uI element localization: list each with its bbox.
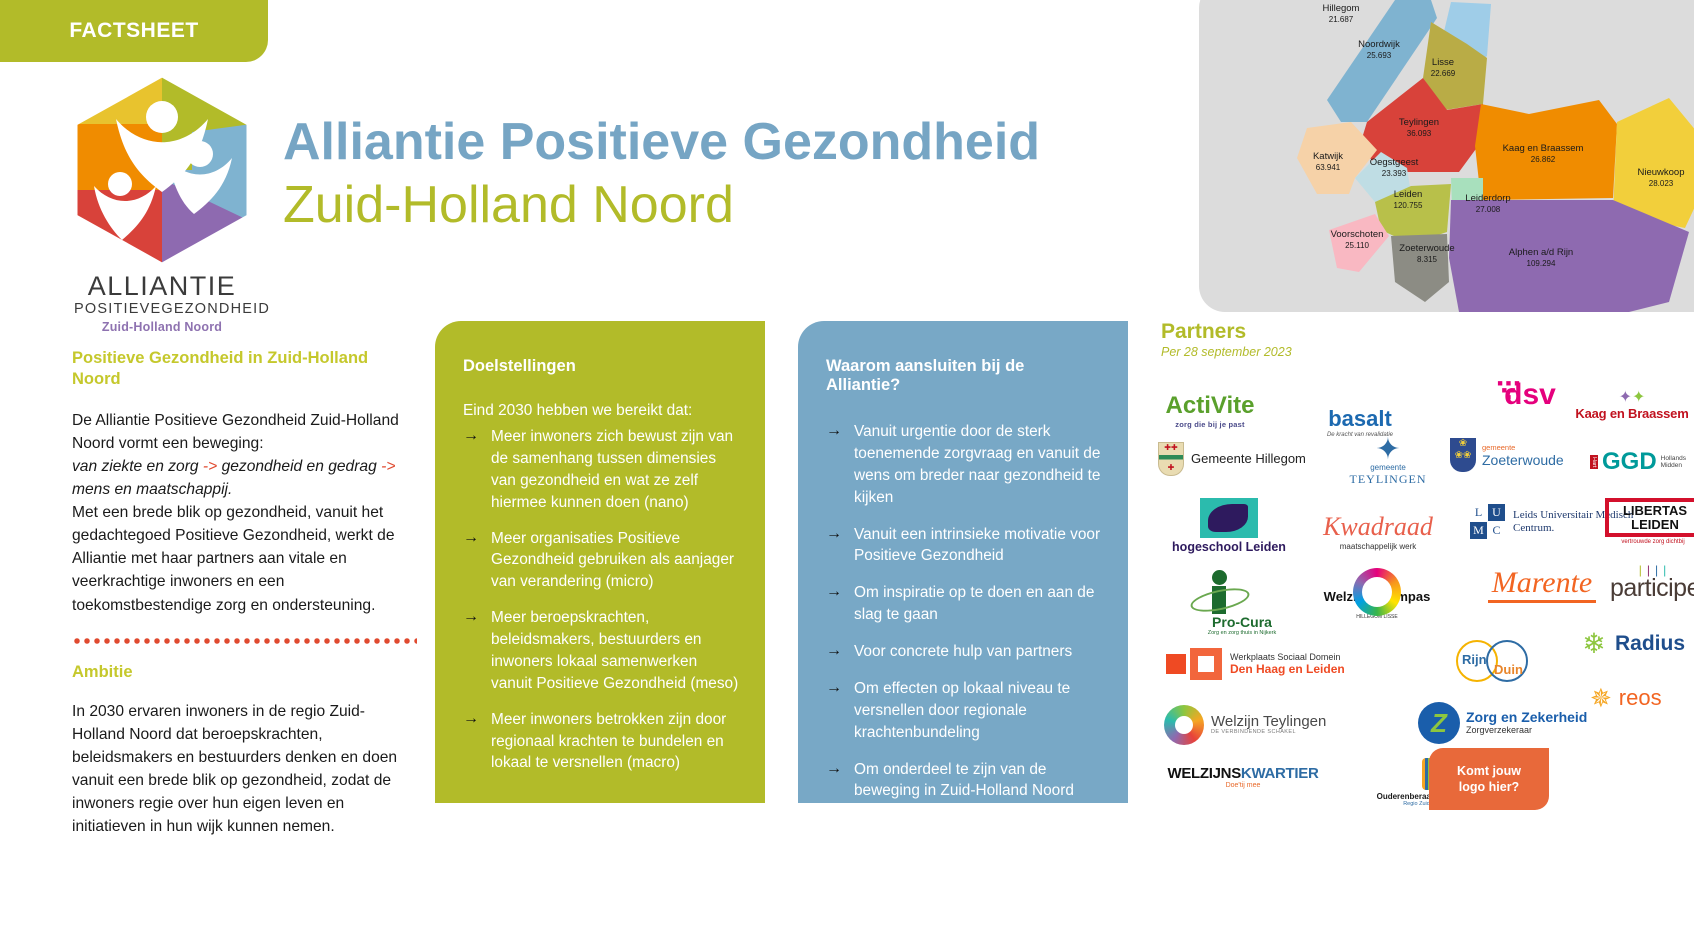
- partners-date: Per 28 september 2023: [1161, 345, 1292, 359]
- list-item: →Vanuit urgentie door de sterk toenemend…: [826, 421, 1102, 509]
- hillegom-crest-icon: ✚✚✚: [1158, 442, 1184, 476]
- partner-logo-gemeente-zoeterwoude: ❀❀❀ gemeente Zoeterwoude: [1450, 438, 1610, 472]
- cta-line1: Komt jouw: [1457, 763, 1521, 779]
- libertas-text: LIBERTAS LEIDEN: [1623, 503, 1687, 532]
- arrow-right-icon: →: [463, 606, 479, 629]
- hillegom-text: Gemeente Hillegom: [1191, 451, 1306, 466]
- partners-heading: Partners: [1161, 320, 1292, 344]
- map-region-voorschoten: [1329, 214, 1389, 272]
- doelstellingen-lead: Eind 2030 hebben we bereikt dat:: [463, 402, 739, 420]
- left-text-column: Positieve Gezondheid in Zuid-Holland Noo…: [72, 348, 417, 838]
- arrow-right-icon: →: [826, 581, 842, 604]
- partner-logo-libertas-leiden: LIBERTAS LEIDEN vertrouwde zorg dichtbij: [1605, 498, 1694, 545]
- dsv-text: dsv: [1504, 378, 1556, 411]
- partner-logo-welzijn-teylingen: Welzijn Teylingen DE VERBINDENDE SCHAKEL: [1164, 705, 1344, 745]
- list-item: →Meer organisaties Positieve Gezondheid …: [463, 528, 739, 594]
- marente-text: Marente: [1492, 566, 1593, 599]
- list-item: →Vanuit een intrinsieke motivatie voor P…: [826, 524, 1102, 568]
- radius-text: Radius: [1615, 632, 1685, 655]
- zoeterwoude-text: Zoeterwoude: [1482, 452, 1564, 468]
- werkplaats-tagline: Werkplaats Sociaal Domein: [1230, 652, 1345, 662]
- partner-logo-hogeschool-leiden: hogeschool Leiden: [1164, 498, 1294, 555]
- partners-heading-block: Partners Per 28 september 2023: [1161, 320, 1292, 359]
- map-region-kaag: [1475, 100, 1617, 200]
- panel-doelstellingen: Doelstellingen Eind 2030 hebben we berei…: [435, 321, 765, 803]
- arrow-right-icon: →: [826, 420, 842, 443]
- zorg-zekerheid-tagline: Zorgverzekeraar: [1466, 726, 1587, 736]
- libertas-tagline: vertrouwde zorg dichtbij: [1605, 539, 1694, 545]
- partner-logo-grid: ActiVite zorg die bij je past basalt De …: [1150, 380, 1694, 820]
- basalt-text: basalt: [1328, 406, 1392, 431]
- partner-logo-gemeente-teylingen: ✦ gemeente TEYLINGEN: [1328, 436, 1448, 487]
- list-item-text: Vanuit een intrinsieke motivatie voor Po…: [854, 526, 1100, 565]
- intro-arrow-2: ->: [381, 458, 395, 475]
- intro-sentence-1: De Alliantie Positieve Gezondheid Zuid-H…: [72, 412, 399, 452]
- partner-logo-kaag-en-braassem: ✦✦ Kaag en Braassem: [1570, 390, 1694, 421]
- intro-italic-1: van ziekte en zorg: [72, 458, 199, 475]
- welzijnskwartier-tagline: Doe'tij mee: [1158, 782, 1328, 789]
- kaag-text: Kaag en Braassem: [1575, 406, 1688, 421]
- logo-word-positieve: POSITIEVE: [74, 301, 161, 317]
- radius-clover-icon: ❄: [1580, 630, 1608, 658]
- partner-logo-pro-cura: Pro-Cura Zorg en zorg thuis in Nijkerk: [1164, 570, 1294, 636]
- komt-jouw-logo-hier-button[interactable]: Komt jouw logo hier?: [1429, 748, 1549, 810]
- ambitie-paragraph: In 2030 ervaren inwoners in de regio Zui…: [72, 700, 417, 838]
- teylingen-text: TEYLINGEN: [1350, 472, 1427, 486]
- arrow-right-icon: →: [826, 640, 842, 663]
- zorg-zekerheid-badge-icon: Z: [1418, 702, 1460, 744]
- welzijnskompas-ring-icon: [1353, 568, 1401, 616]
- partner-logo-marente: Marente: [1472, 566, 1612, 603]
- partner-logo-ggd: Hart GGD Hollands Midden: [1590, 448, 1694, 476]
- ggd-text: GGD: [1602, 448, 1657, 475]
- left-intro-paragraph: De Alliantie Positieve Gezondheid Zuid-H…: [72, 409, 417, 617]
- arrow-right-icon: →: [826, 677, 842, 700]
- page-title-line2: Zuid-Holland Noord: [283, 175, 1040, 236]
- cta-line2: logo hier?: [1457, 779, 1521, 795]
- list-item-text: Meer organisaties Positieve Gezondheid g…: [491, 530, 734, 591]
- factsheet-page: FACTSHEET: [0, 0, 1694, 950]
- partner-logo-gemeente-hillegom: ✚✚✚ Gemeente Hillegom: [1158, 442, 1308, 476]
- intro-italic-2: gezondheid en gedrag: [222, 458, 377, 475]
- partner-logo-radius: ❄ Radius: [1580, 630, 1694, 658]
- list-item-text: Vanuit urgentie door de sterk toenemende…: [854, 423, 1100, 506]
- list-item-text: Meer inwoners zich bewust zijn van de sa…: [491, 428, 733, 511]
- panel-waarom-aansluiten: Waarom aansluiten bij de Alliantie? →Van…: [798, 321, 1128, 803]
- arrow-right-icon: →: [463, 527, 479, 550]
- partner-logo-activite: ActiVite zorg die bij je past: [1150, 392, 1270, 429]
- doelstellingen-title: Doelstellingen: [463, 357, 739, 376]
- page-title: Alliantie Positieve Gezondheid Zuid-Holl…: [283, 112, 1040, 237]
- list-item: →Meer beroepskrachten, beleidsmakers, be…: [463, 607, 739, 695]
- hogeschool-text: hogeschool Leiden: [1172, 540, 1286, 554]
- partner-logo-dsv: ■■■■■■ dsv: [1450, 380, 1570, 412]
- doelstellingen-list: →Meer inwoners zich bewust zijn van de s…: [463, 426, 739, 774]
- waarom-title: Waarom aansluiten bij de Alliantie?: [826, 357, 1102, 395]
- list-item: →Om inspiratie op te doen en aan de slag…: [826, 582, 1102, 626]
- reos-text: reos: [1619, 685, 1662, 710]
- partner-logo-reos: ✵ reos: [1590, 685, 1694, 711]
- teylingen-tagline: gemeente: [1328, 463, 1448, 472]
- logo-word-alliantie: ALLIANTIE: [72, 272, 252, 300]
- logo-wordmark: ALLIANTIE POSITIEVE GEZONDHEID Zuid-Holl…: [72, 272, 252, 334]
- hogeschool-bird-icon: [1200, 498, 1258, 538]
- alliantie-logo: ALLIANTIE POSITIEVE GEZONDHEID Zuid-Holl…: [72, 72, 252, 334]
- list-item: →Om effecten op lokaal niveau te versnel…: [826, 678, 1102, 744]
- factsheet-tab-label: FACTSHEET: [69, 19, 198, 43]
- ambitie-heading: Ambitie: [72, 663, 417, 682]
- arrow-right-icon: →: [826, 523, 842, 546]
- pro-cura-tagline: Zorg en zorg thuis in Nijkerk: [1190, 630, 1294, 636]
- logo-word-gezondheid: GEZONDHEID: [161, 301, 270, 317]
- list-item-text: Voor concrete hulp van partners: [854, 643, 1072, 660]
- list-item: →Voor concrete hulp van partners: [826, 641, 1102, 663]
- waarom-list: →Vanuit urgentie door de sterk toenemend…: [826, 421, 1102, 802]
- welzijn-teylingen-tagline: DE VERBINDENDE SCHAKEL: [1211, 730, 1326, 736]
- partner-logo-werkplaats-sociaal-domein: Werkplaats Sociaal Domein Den Haag en Le…: [1166, 648, 1366, 680]
- factsheet-tab: FACTSHEET: [0, 0, 268, 62]
- list-item: →Om onderdeel te zijn van de beweging in…: [826, 759, 1102, 803]
- activite-tagline: zorg die bij je past: [1150, 420, 1270, 429]
- intro-italic-3: mens en maatschappij.: [72, 481, 232, 498]
- map-region-zoeterwoude: [1391, 234, 1449, 302]
- page-title-line1: Alliantie Positieve Gezondheid: [283, 112, 1040, 173]
- list-item-text: Meer inwoners betrokken zijn door region…: [491, 711, 726, 772]
- list-item-text: Om effecten op lokaal niveau te versnell…: [854, 680, 1070, 741]
- ggd-heart-label: Hart: [1590, 455, 1598, 469]
- map-shapes: [1199, 0, 1694, 312]
- region-map: Hillegom 21.687 Noordwijk 25.693 Lisse 2…: [1199, 0, 1694, 312]
- list-item: →Meer inwoners betrokken zijn door regio…: [463, 709, 739, 775]
- werkplaats-text: Den Haag en Leiden: [1230, 662, 1345, 676]
- zoeterwoude-tagline: gemeente: [1482, 443, 1564, 452]
- kwadraad-tagline: maatschappelijk werk: [1308, 542, 1448, 551]
- activite-text: ActiVite: [1166, 392, 1255, 419]
- zoeterwoude-crest-icon: ❀❀❀: [1450, 438, 1476, 472]
- lumc-monogram-icon: L U M C: [1470, 504, 1505, 539]
- participe-text: participe: [1610, 574, 1694, 602]
- list-item-text: Om inspiratie op te doen en aan de slag …: [854, 584, 1094, 623]
- partner-logo-rijn-en-duin: Rijn Duin: [1450, 638, 1560, 684]
- logo-word-region: Zuid-Holland Noord: [72, 320, 252, 334]
- partner-logo-welzijnskwartier: WELZIJNSKWARTIER Doe'tij mee: [1158, 765, 1328, 789]
- intro-arrow-1: ->: [203, 458, 217, 475]
- partner-logo-participe: |||| participe: [1600, 566, 1694, 603]
- list-item-text: Om onderdeel te zijn van de beweging in …: [854, 761, 1074, 800]
- arrow-right-icon: →: [463, 425, 479, 448]
- werkplaats-squares-icon: [1166, 648, 1222, 680]
- list-item: →Meer inwoners zich bewust zijn van de s…: [463, 426, 739, 514]
- arrow-right-icon: →: [463, 708, 479, 731]
- partner-logo-kwadraad: Kwadraad maatschappelijk werk: [1308, 512, 1448, 551]
- welzijn-teylingen-text: Welzijn Teylingen: [1211, 714, 1326, 730]
- ggd-tagline: Hollands Midden: [1661, 455, 1686, 469]
- intro-sentence-2: Met een brede blik op gezondheid, vanuit…: [72, 504, 395, 613]
- partner-logo-zorg-en-zekerheid: Z Zorg en Zekerheid Zorgverzekeraar: [1418, 702, 1598, 744]
- logo-hexagon-icon: [72, 72, 252, 268]
- arrow-right-icon: →: [826, 758, 842, 781]
- pro-cura-text: Pro-Cura: [1212, 614, 1272, 630]
- list-item-text: Meer beroepskrachten, beleidsmakers, bes…: [491, 609, 738, 692]
- welzijn-teylingen-ring-icon: [1164, 705, 1204, 745]
- pro-cura-figure-icon: [1164, 570, 1294, 614]
- kwadraad-text: Kwadraad: [1323, 512, 1433, 541]
- teylingen-crest-icon: ✦: [1328, 436, 1448, 463]
- dotted-divider: [72, 637, 417, 645]
- left-section-heading: Positieve Gezondheid in Zuid-Holland Noo…: [72, 348, 417, 391]
- zorg-zekerheid-text: Zorg en Zekerheid: [1466, 710, 1587, 725]
- partner-logo-welzijnskompas: Welzijns Kompas HILLEGOM LISSE: [1322, 568, 1432, 620]
